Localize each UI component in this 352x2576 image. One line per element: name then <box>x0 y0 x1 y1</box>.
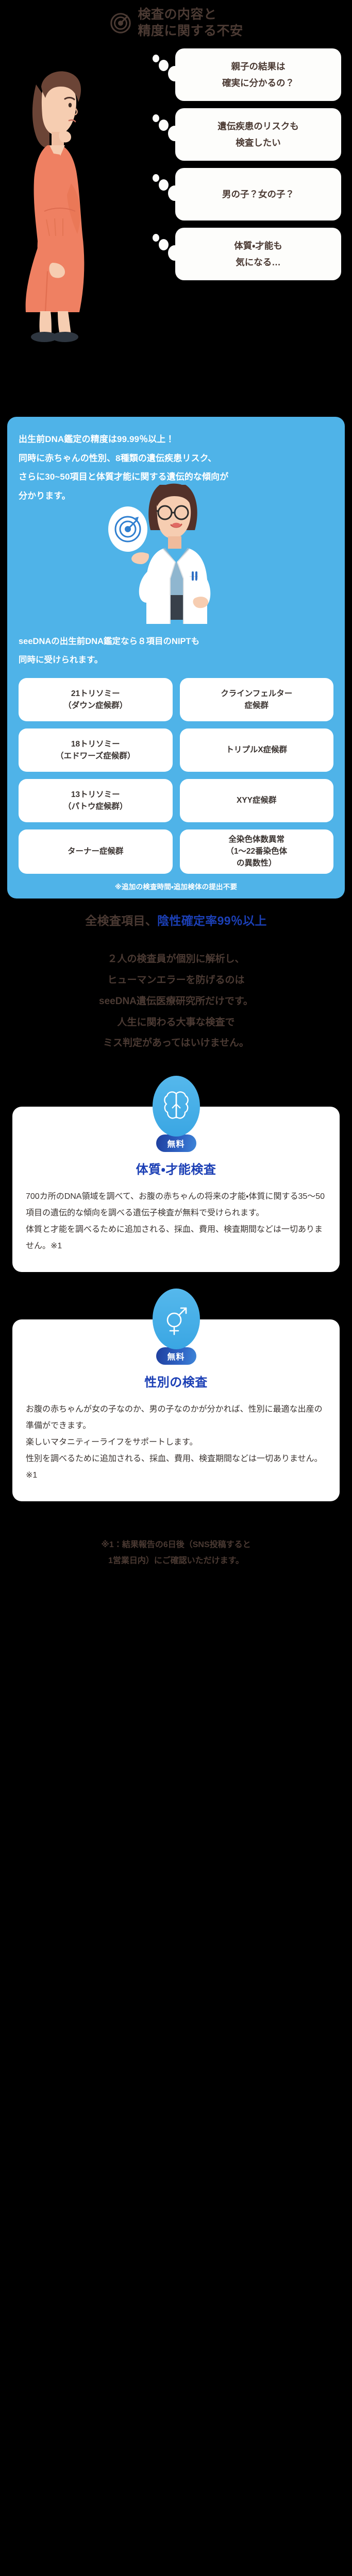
accuracy-panel: 出生前DNA鑑定の精度は99.99％以上！ 同時に赤ちゃんの性別、8種類の遺伝疾… <box>7 417 345 899</box>
bubble-tail-dot-medium <box>159 60 169 71</box>
target-icon <box>109 11 132 35</box>
gender-symbol-icon <box>153 1289 200 1349</box>
condition-label: XYY症候群 <box>237 794 277 806</box>
footer-note: ※1：結果報告の6日後（SNS投稿すると 1営業日内）にご確認いただけます。 <box>13 1537 339 1569</box>
doctor-illustration <box>99 476 254 635</box>
doctor-illustration-wrap <box>19 476 333 635</box>
panel-footnote: ※追加の検査時間・追加検体の提出不要 <box>19 881 333 891</box>
feature-card-title: 体質・才能検査 <box>26 1159 326 1177</box>
bubble-line-2: 確実に分かるの？ <box>222 75 294 91</box>
condition-label: 13トリソミー （パトウ症候群） <box>63 789 127 813</box>
thought-bubble-2: 遺伝疾患のリスクも 検査したい <box>175 108 341 161</box>
section-heading: 全検査項目、陰性確定率99％以上 <box>11 912 341 930</box>
page-header: 検査の内容と 精度に関する不安 <box>0 0 352 41</box>
list-item: 男の子？女の子？ <box>153 168 341 221</box>
brain-icon <box>153 1076 200 1137</box>
bubble-line-2: 気になる… <box>236 254 281 270</box>
condition-item: 18トリソミー （エドワーズ症候群） <box>19 728 173 772</box>
section-body-text: ２人の検査員が個別に解析し、 ヒューマンエラーを防げるのは seeDNA遺伝医療… <box>11 949 341 1054</box>
nipt-availability-text: seeDNAの出生前DNA鑑定なら８項目のNIPTも 同時に受けられます。 <box>19 632 333 670</box>
feature-card-body: 700カ所のDNA領域を調べて、お腹の赤ちゃんの将来の才能・体質に関する35〜5… <box>26 1189 326 1255</box>
thought-bubble-1: 親子の結果は 確実に分かるの？ <box>175 48 341 101</box>
bubble-tail-dot-small <box>153 55 159 62</box>
page-title: 検査の内容と 精度に関する不安 <box>138 6 243 39</box>
bubble-line-1: 体質・才能も <box>234 238 282 254</box>
condition-item: ターナー症候群 <box>19 829 173 874</box>
pregnant-woman-illustration <box>13 55 111 343</box>
condition-label: クラインフェルター 症候群 <box>221 688 292 712</box>
bubble-line-1: 遺伝疾患のリスクも <box>217 118 299 134</box>
bubble-tail-dot-large <box>168 126 181 141</box>
list-item: 遺伝疾患のリスクも 検査したい <box>153 108 341 161</box>
condition-item: トリプルX症候群 <box>180 728 334 772</box>
condition-label: トリプルX症候群 <box>226 744 287 756</box>
bubble-line-1: 男の子？女の子？ <box>222 186 294 202</box>
bubble-line-1: 親子の結果は <box>231 58 286 75</box>
heading-part-brown: 全検査項目、 <box>85 914 157 927</box>
thought-bubble-4: 体質・才能も 気になる… <box>175 228 341 280</box>
feature-card-title: 性別の検査 <box>26 1372 326 1390</box>
condition-item: 21トリソミー （ダウン症候群） <box>19 678 173 721</box>
list-item: 体質・才能も 気になる… <box>153 228 341 280</box>
bubble-tail-dot-large <box>168 245 181 261</box>
bubble-tail-dot-medium <box>159 120 169 131</box>
list-item: 親子の結果は 確実に分かるの？ <box>153 48 341 101</box>
condition-label: 21トリソミー （ダウン症候群） <box>63 688 127 712</box>
feature-card-body: お腹の赤ちゃんが女の子なのか、男の子なのかが分かれば、性別に最適な出産の準備がで… <box>26 1401 326 1484</box>
worry-section: 親子の結果は 確実に分かるの？ 遺伝疾患のリスクも 検査したい 男の子？女の子？ <box>0 48 352 412</box>
bubble-tail-dot-large <box>168 185 181 201</box>
condition-label: ターナー症候群 <box>68 845 124 857</box>
feature-card-gender: 無料 性別の検査 お腹の赤ちゃんが女の子なのか、男の子なのかが分かれば、性別に最… <box>12 1319 340 1501</box>
status-badge: 無料 <box>156 1347 196 1365</box>
condition-item: 全染色体数異常 （1〜22番染色体 の異数性） <box>180 829 334 874</box>
condition-item: 13トリソミー （パトウ症候群） <box>19 779 173 822</box>
thought-bubble-3: 男の子？女の子？ <box>175 168 341 221</box>
condition-item: クラインフェルター 症候群 <box>180 678 334 721</box>
condition-grid: 21トリソミー （ダウン症候群） クラインフェルター 症候群 18トリソミー （… <box>19 678 333 874</box>
condition-item: XYY症候群 <box>180 779 334 822</box>
heading-part-blue: 陰性確定率99％以上 <box>157 914 267 927</box>
status-badge: 無料 <box>156 1134 196 1152</box>
bubble-tail-dot-small <box>153 114 159 122</box>
bubble-tail-dot-small <box>153 174 159 182</box>
condition-label: 18トリソミー （エドワーズ症候群） <box>56 738 135 762</box>
bubble-tail-dot-small <box>153 234 159 242</box>
accuracy-claim-section: 全検査項目、陰性確定率99％以上 ２人の検査員が個別に解析し、 ヒューマンエラー… <box>0 899 352 1060</box>
condition-label: 全染色体数異常 （1〜22番染色体 の異数性） <box>226 834 287 870</box>
feature-card-constitution-talent: 無料 体質・才能検査 700カ所のDNA領域を調べて、お腹の赤ちゃんの将来の才能… <box>12 1107 340 1272</box>
bubble-tail-dot-large <box>168 66 181 81</box>
bubble-line-2: 検査したい <box>236 134 281 151</box>
bubble-tail-dot-medium <box>159 239 169 250</box>
thought-bubble-list: 親子の結果は 確実に分かるの？ 遺伝疾患のリスクも 検査したい 男の子？女の子？ <box>153 48 341 287</box>
bubble-tail-dot-medium <box>159 179 169 191</box>
